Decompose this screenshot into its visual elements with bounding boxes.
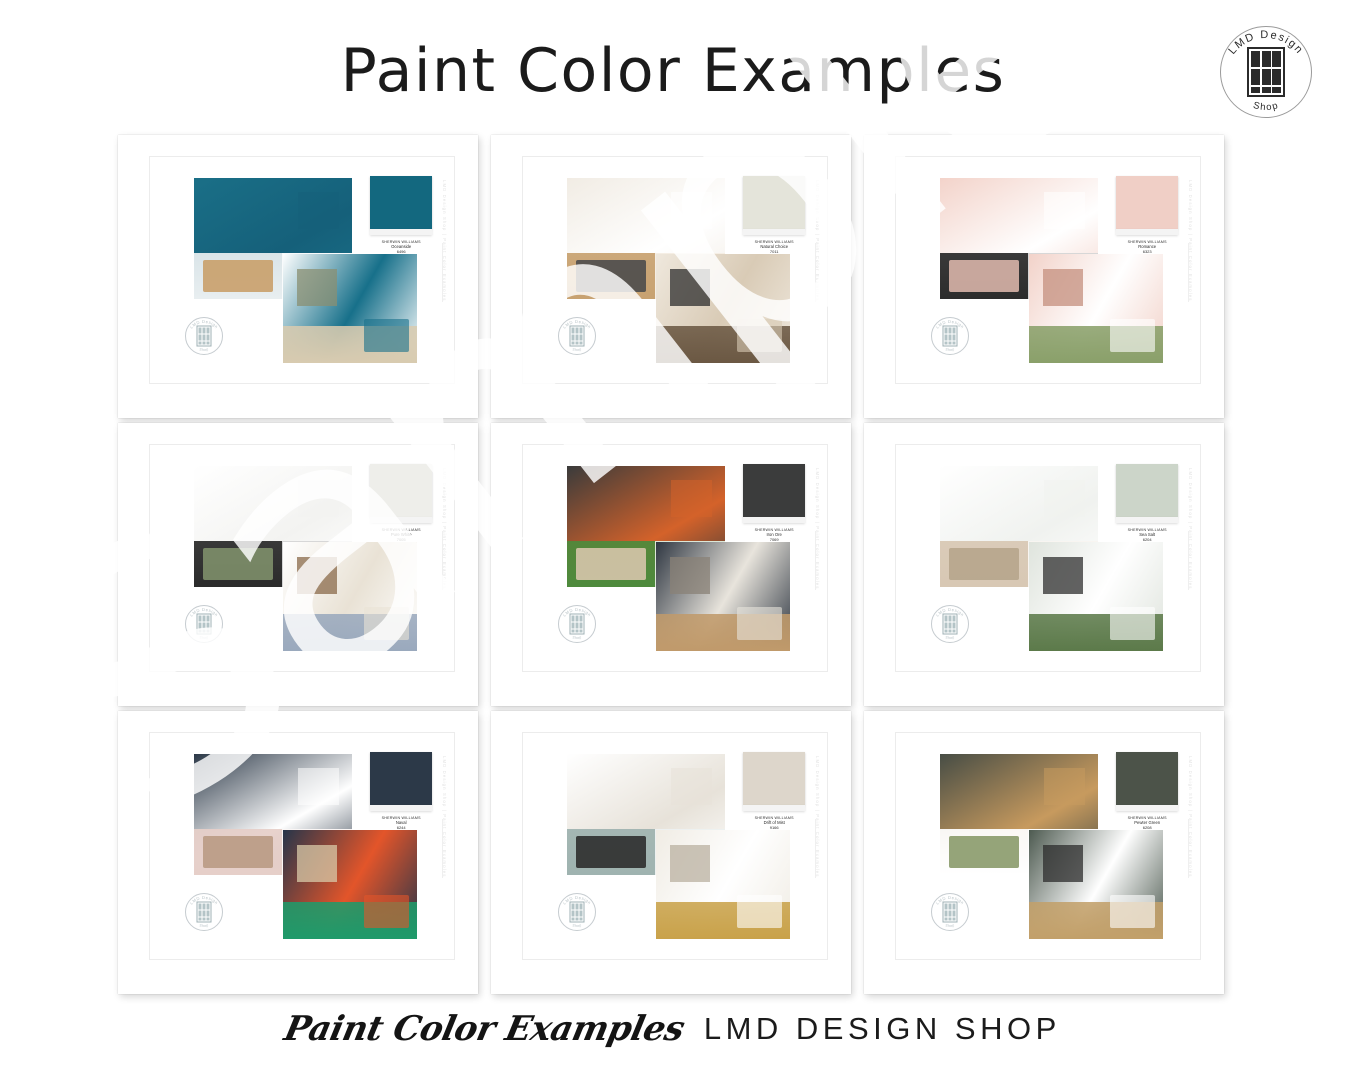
swatch-color-chip	[743, 464, 805, 516]
card-vertical-rule	[1188, 819, 1189, 878]
swatch-color-chip	[1116, 464, 1178, 516]
badge-arc-bottom-label: Shop	[571, 348, 581, 353]
paint-swatch[interactable]: SHERWIN WILLIAMS Drift of Mist 9166	[743, 752, 805, 830]
card-pewter-green[interactable]: SHERWIN WILLIAMS Pewter Green 6208	[864, 711, 1224, 994]
card-inner-frame: SHERWIN WILLIAMS Sea Salt 6204	[895, 444, 1201, 672]
swatch-label: SHERWIN WILLIAMS Iron Ore 7069	[743, 528, 805, 543]
paint-swatch[interactable]: SHERWIN WILLIAMS Pure White 7005	[370, 464, 432, 542]
card-vertical-rule	[442, 819, 443, 878]
lmd-design-shop-logo: LMD Design Shop	[1212, 16, 1320, 128]
door-icon	[569, 614, 584, 635]
card-inner-frame: SHERWIN WILLIAMS Pure White 7005	[149, 444, 455, 672]
badge-arc-bottom-label: Shop	[944, 924, 954, 929]
footer-script-title: Paint Color Examples	[281, 1009, 688, 1049]
swatch-color-chip	[743, 176, 805, 228]
secondary-photo	[283, 254, 417, 362]
paint-swatch[interactable]: SHERWIN WILLIAMS Naval 6244	[370, 752, 432, 830]
card-logo-badge: LMD Design Shop	[928, 602, 972, 646]
footer-brand-name: LMD DESIGN SHOP	[704, 1011, 1061, 1047]
card-vertical-rule	[442, 531, 443, 590]
card-naval[interactable]: SHERWIN WILLIAMS Naval 6244	[118, 711, 478, 994]
swatch-label: SHERWIN WILLIAMS Sea Salt 6204	[1116, 528, 1178, 543]
door-icon	[569, 902, 584, 923]
card-inner-frame: SHERWIN WILLIAMS Iron Ore 7069	[522, 444, 828, 672]
card-vertical-rule	[1188, 243, 1189, 302]
card-logo-badge: LMD Design Shop	[182, 890, 226, 934]
secondary-photo	[283, 830, 417, 938]
card-vertical-watermark: LMD Design Shop | Paint Color Examples	[1188, 468, 1193, 590]
card-inner-frame: SHERWIN WILLIAMS Oceanside 6496	[149, 156, 455, 384]
card-natural-choice[interactable]: SHERWIN WILLIAMS Natural Choice 7011	[491, 135, 851, 418]
svg-text:Shop: Shop	[571, 924, 581, 929]
door-icon	[196, 326, 211, 347]
svg-text:Shop: Shop	[944, 636, 954, 641]
paint-card-grid: SHERWIN WILLIAMS Oceanside 6496	[118, 135, 1240, 1005]
card-logo-badge: LMD Design Shop	[555, 602, 599, 646]
swatch-color-chip	[1116, 752, 1178, 804]
paint-swatch[interactable]: SHERWIN WILLIAMS Natural Choice 7011	[743, 176, 805, 254]
svg-text:Shop: Shop	[198, 636, 208, 641]
svg-text:Shop: Shop	[571, 636, 581, 641]
footer: Paint Color Examples LMD DESIGN SHOP	[0, 1009, 1346, 1049]
card-vertical-watermark: LMD Design Shop | Paint Color Examples	[815, 180, 820, 302]
card-logo-badge: LMD Design Shop	[555, 890, 599, 934]
card-vertical-watermark: LMD Design Shop | Paint Color Examples	[442, 180, 447, 302]
swatch-label: SHERWIN WILLIAMS Pewter Green 6208	[1116, 816, 1178, 831]
card-vertical-watermark: LMD Design Shop | Paint Color Examples	[1188, 756, 1193, 878]
swatch-color-chip	[370, 752, 432, 804]
card-logo-badge: LMD Design Shop	[182, 602, 226, 646]
paint-swatch[interactable]: SHERWIN WILLIAMS Romance 6323	[1116, 176, 1178, 254]
secondary-photo	[1029, 254, 1163, 362]
paint-swatch[interactable]: SHERWIN WILLIAMS Pewter Green 6208	[1116, 752, 1178, 830]
badge-arc-bottom-label: Shop	[571, 636, 581, 641]
card-vertical-watermark: LMD Design Shop | Paint Color Examples	[442, 756, 447, 878]
badge-arc-bottom-label: Shop	[198, 348, 208, 353]
swatch-label: SHERWIN WILLIAMS Pure White 7005	[370, 528, 432, 543]
badge-arc-bottom-label: Shop	[944, 636, 954, 641]
badge-arc-bottom-label: Shop	[571, 924, 581, 929]
swatch-color-chip	[743, 752, 805, 804]
secondary-photo	[1029, 830, 1163, 938]
card-logo-badge: LMD Design Shop	[555, 314, 599, 358]
paint-swatch[interactable]: SHERWIN WILLIAMS Iron Ore 7069	[743, 464, 805, 542]
door-icon	[196, 614, 211, 635]
card-vertical-rule	[815, 819, 816, 878]
swatch-color-chip	[370, 176, 432, 228]
swatch-label: SHERWIN WILLIAMS Romance 6323	[1116, 240, 1178, 255]
badge-arc-bottom-label: Shop	[198, 636, 208, 641]
svg-text:Shop: Shop	[198, 924, 208, 929]
swatch-label: SHERWIN WILLIAMS Drift of Mist 9166	[743, 816, 805, 831]
door-icon	[569, 326, 584, 347]
svg-text:Shop: Shop	[198, 348, 208, 353]
secondary-photo	[656, 542, 790, 650]
door-icon	[942, 902, 957, 923]
swatch-label: SHERWIN WILLIAMS Oceanside 6496	[370, 240, 432, 255]
swatch-color-chip	[1116, 176, 1178, 228]
card-pure-white[interactable]: SHERWIN WILLIAMS Pure White 7005	[118, 423, 478, 706]
svg-text:Shop: Shop	[944, 924, 954, 929]
card-sea-salt[interactable]: SHERWIN WILLIAMS Sea Salt 6204	[864, 423, 1224, 706]
card-inner-frame: SHERWIN WILLIAMS Naval 6244	[149, 732, 455, 960]
card-vertical-rule	[815, 243, 816, 302]
swatch-color-chip	[370, 464, 432, 516]
card-vertical-watermark: LMD Design Shop | Paint Color Examples	[815, 756, 820, 878]
door-icon	[942, 614, 957, 635]
card-vertical-rule	[442, 243, 443, 302]
page-title: Paint Color Examples	[0, 36, 1346, 106]
paint-swatch[interactable]: SHERWIN WILLIAMS Sea Salt 6204	[1116, 464, 1178, 542]
badge-arc-bottom-label: Shop	[198, 924, 208, 929]
card-vertical-watermark: LMD Design Shop | Paint Color Examples	[442, 468, 447, 590]
secondary-photo	[1029, 542, 1163, 650]
secondary-photo	[656, 254, 790, 362]
card-vertical-rule	[815, 531, 816, 590]
svg-text:Shop: Shop	[944, 348, 954, 353]
swatch-label: SHERWIN WILLIAMS Natural Choice 7011	[743, 240, 805, 255]
card-drift-of-mist[interactable]: SHERWIN WILLIAMS Drift of Mist 9166	[491, 711, 851, 994]
door-icon	[942, 326, 957, 347]
paint-swatch[interactable]: SHERWIN WILLIAMS Oceanside 6496	[370, 176, 432, 254]
card-vertical-rule	[1188, 531, 1189, 590]
card-logo-badge: LMD Design Shop	[928, 890, 972, 934]
card-inner-frame: SHERWIN WILLIAMS Pewter Green 6208	[895, 732, 1201, 960]
door-icon	[196, 902, 211, 923]
svg-text:Shop: Shop	[571, 348, 581, 353]
card-vertical-watermark: LMD Design Shop | Paint Color Examples	[815, 468, 820, 590]
card-inner-frame: SHERWIN WILLIAMS Drift of Mist 9166	[522, 732, 828, 960]
door-icon	[1247, 47, 1285, 97]
swatch-label: SHERWIN WILLIAMS Naval 6244	[370, 816, 432, 831]
card-romance[interactable]: SHERWIN WILLIAMS Romance 6323	[864, 135, 1224, 418]
card-iron-ore[interactable]: SHERWIN WILLIAMS Iron Ore 7069	[491, 423, 851, 706]
secondary-photo	[283, 542, 417, 650]
card-logo-badge: LMD Design Shop	[182, 314, 226, 358]
secondary-photo	[656, 830, 790, 938]
card-vertical-watermark: LMD Design Shop | Paint Color Examples	[1188, 180, 1193, 302]
card-oceanside[interactable]: SHERWIN WILLIAMS Oceanside 6496	[118, 135, 478, 418]
card-logo-badge: LMD Design Shop	[928, 314, 972, 358]
card-inner-frame: SHERWIN WILLIAMS Romance 6323	[895, 156, 1201, 384]
badge-arc-bottom-label: Shop	[944, 348, 954, 353]
card-inner-frame: SHERWIN WILLIAMS Natural Choice 7011	[522, 156, 828, 384]
